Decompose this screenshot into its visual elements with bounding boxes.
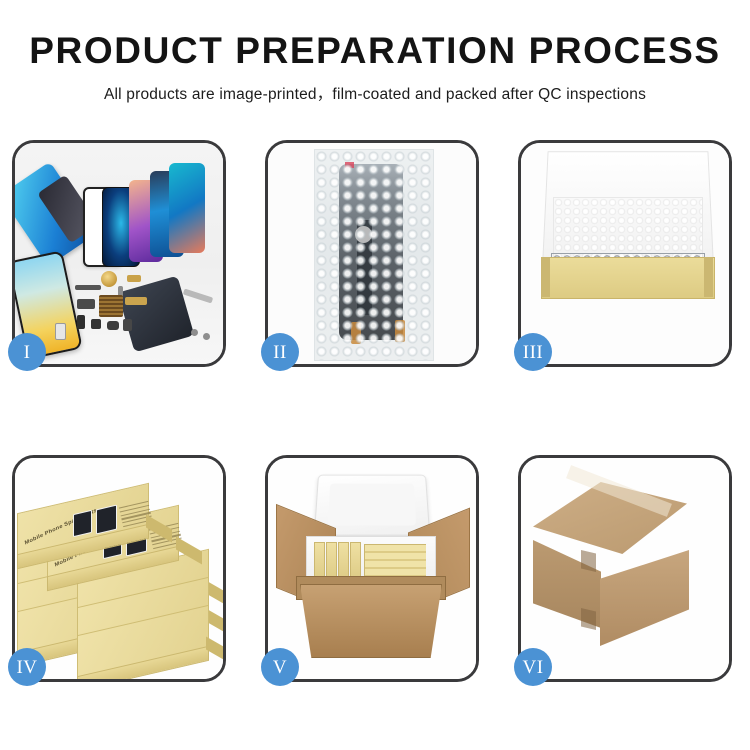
step-badge-4: IV xyxy=(8,648,46,686)
product-preparation-page: PRODUCT PREPARATION PROCESS All products… xyxy=(0,0,750,750)
tray-left-wall xyxy=(541,257,550,297)
stacked-boxes-illustration: Mobile Phone Spare Parts xyxy=(15,458,223,679)
process-steps-grid: I II xyxy=(12,140,742,685)
phones-parts-illustration xyxy=(15,143,223,364)
part-tweezers-icon xyxy=(183,289,213,304)
part-module-icon xyxy=(77,299,95,309)
part-speaker-icon xyxy=(107,321,119,330)
foam-box-lid-inset xyxy=(328,484,416,526)
step-badge-6: VI xyxy=(514,648,552,686)
part-chip-grid-icon xyxy=(99,295,123,317)
box-stack: Mobile Phone Spare Parts xyxy=(15,472,223,672)
page-subtitle: All products are image-printed，film-coat… xyxy=(0,82,750,104)
part-gold-flex-icon xyxy=(127,275,141,282)
part-screw-2-icon xyxy=(203,333,210,340)
step-badge-2: II xyxy=(261,333,299,371)
tray-box-illustration xyxy=(521,143,729,364)
step-badge-3: III xyxy=(514,333,552,371)
box-art-screen-b-1 xyxy=(96,505,117,535)
page-title: PRODUCT PREPARATION PROCESS xyxy=(0,32,750,69)
part-flex-cable-icon xyxy=(125,297,147,305)
step-image-6 xyxy=(521,458,729,679)
part-connector-icon xyxy=(75,285,101,290)
bubble-wrap-bag xyxy=(314,149,434,361)
part-vibrator-icon xyxy=(123,319,132,331)
carton-handle-slot-bottom xyxy=(581,608,596,630)
box-art-screen-a-1 xyxy=(73,510,92,537)
part-gold-coil-icon xyxy=(101,271,117,287)
step-panel-1: I xyxy=(12,140,226,367)
step-panel-6: VI xyxy=(518,455,732,682)
step-image-1 xyxy=(15,143,223,364)
carton-front-wall xyxy=(300,584,442,658)
step-badge-5: V xyxy=(261,648,299,686)
step-badge-1: I xyxy=(8,333,46,371)
step-image-4: Mobile Phone Spare Parts xyxy=(15,458,223,679)
step-panel-3: III xyxy=(518,140,732,367)
bubble-texture xyxy=(315,150,433,360)
phone-opened-chassis-icon xyxy=(118,276,195,353)
part-camera-icon xyxy=(77,315,85,329)
step-image-5 xyxy=(268,458,476,679)
open-carton-illustration xyxy=(268,458,476,679)
tray-right-wall xyxy=(704,257,713,297)
step-panel-2: II xyxy=(265,140,479,367)
step-image-3 xyxy=(521,143,729,364)
bubble-wrap-illustration xyxy=(268,143,476,364)
part-button-icon xyxy=(91,319,101,329)
step-panel-4: Mobile Phone Spare Parts xyxy=(12,455,226,682)
part-screw-1-icon xyxy=(191,329,198,336)
carton-right-face xyxy=(600,550,689,646)
phone-teal-icon xyxy=(169,163,205,253)
step-panel-5: V xyxy=(265,455,479,682)
page-header: PRODUCT PREPARATION PROCESS All products… xyxy=(0,0,750,104)
yellow-tray-body xyxy=(541,257,715,299)
step-image-2 xyxy=(268,143,476,364)
part-sim-tray-icon xyxy=(55,323,66,340)
sealed-carton-illustration xyxy=(521,458,729,679)
carton-handle-slot-top xyxy=(581,550,596,572)
